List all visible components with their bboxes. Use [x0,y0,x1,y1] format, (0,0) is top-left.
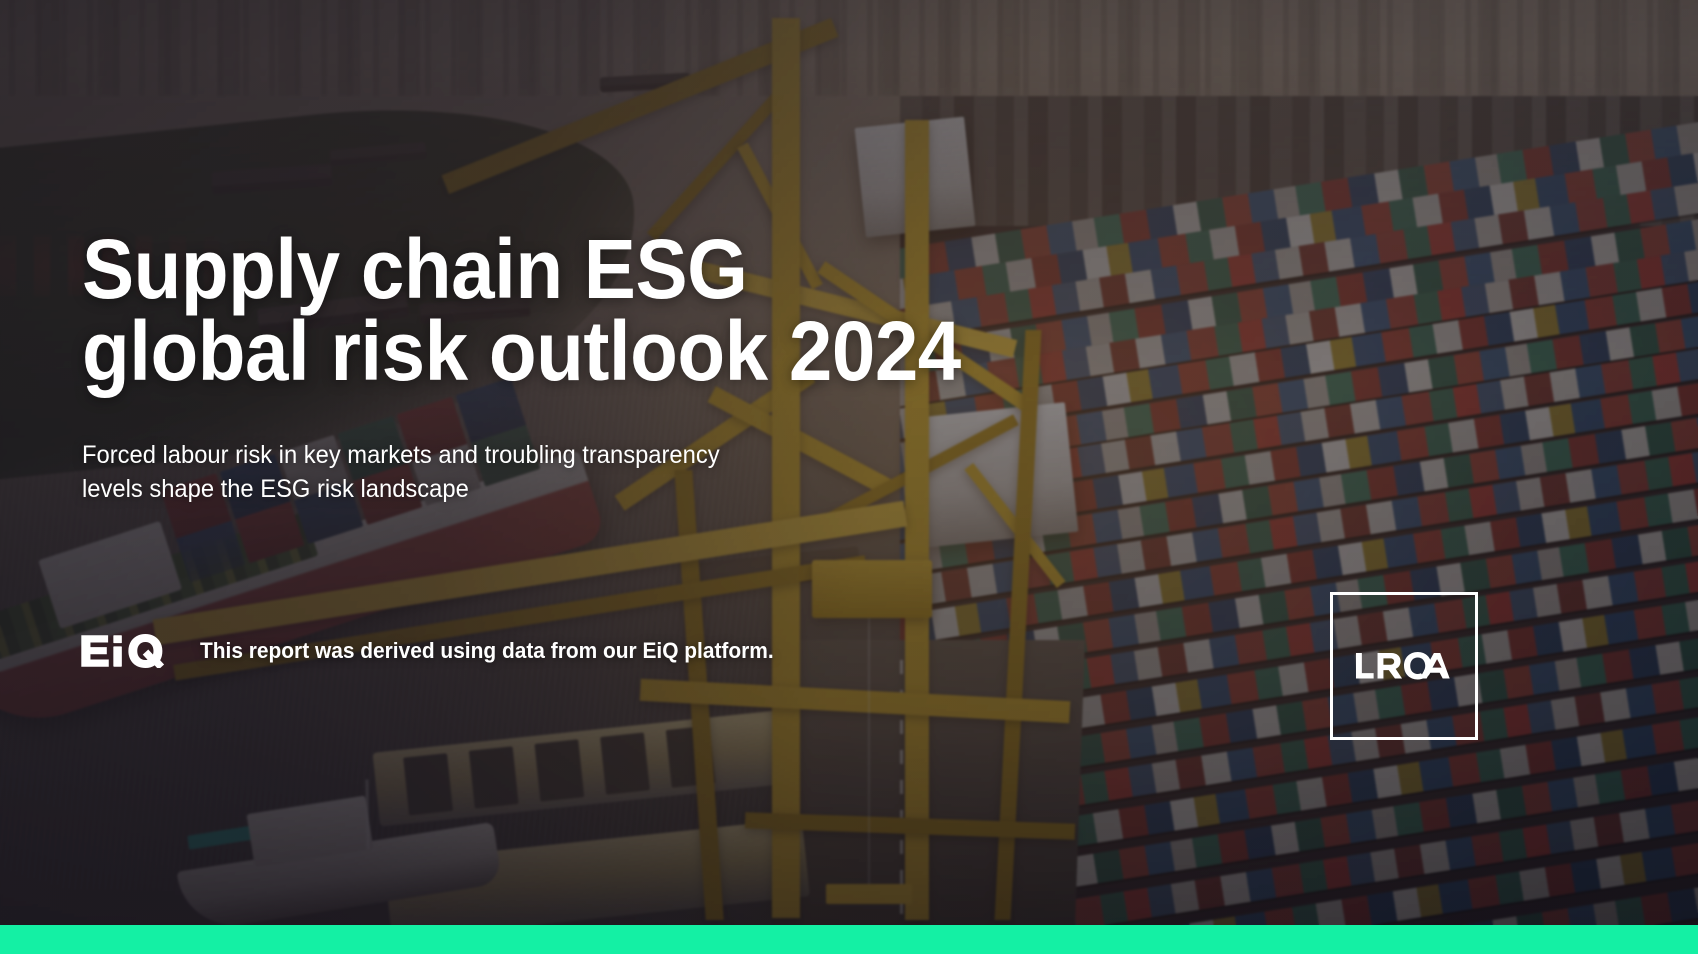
lrqa-logo-icon [1355,652,1453,679]
title-line-2: global risk outlook 2024 [82,310,961,392]
eiq-logo-icon [80,634,178,668]
eiq-credit-row: This report was derived using data from … [80,634,804,668]
bottom-accent-bar [0,925,1698,954]
subtitle-line-1: Forced labour risk in key markets and tr… [82,441,720,469]
lrqa-logo-box [1330,592,1478,740]
title-line-1: Supply chain ESG [82,222,747,316]
report-cover-page: Supply chain ESG global risk outlook 202… [0,0,1698,954]
eiq-credit-text: This report was derived using data from … [200,638,774,664]
cover-content: Supply chain ESG global risk outlook 202… [0,0,1698,954]
page-title: Supply chain ESG global risk outlook 202… [82,228,961,393]
page-subtitle: Forced labour risk in key markets and tr… [82,438,720,506]
subtitle-line-2: levels shape the ESG risk landscape [82,472,720,506]
